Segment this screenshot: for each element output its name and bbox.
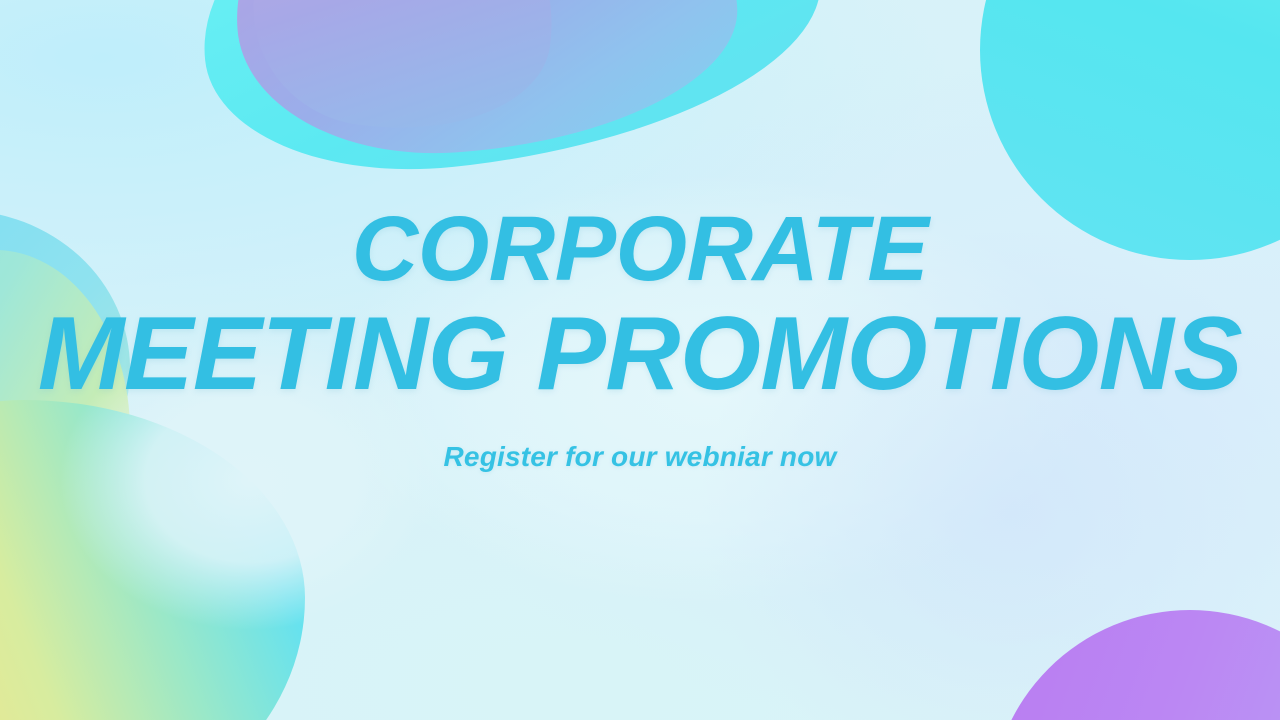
page-title: CORPORATE MEETING PROMOTIONS	[0, 203, 1280, 407]
subtitle: Register for our webniar now	[0, 441, 1280, 473]
title-line-2: MEETING PROMOTIONS	[0, 301, 1280, 407]
headline-block: CORPORATE MEETING PROMOTIONS Register fo…	[0, 203, 1280, 473]
title-line-1: CORPORATE	[0, 203, 1280, 297]
promo-poster: CORPORATE MEETING PROMOTIONS Register fo…	[0, 0, 1280, 720]
poster-content: CORPORATE MEETING PROMOTIONS Register fo…	[0, 0, 1280, 720]
